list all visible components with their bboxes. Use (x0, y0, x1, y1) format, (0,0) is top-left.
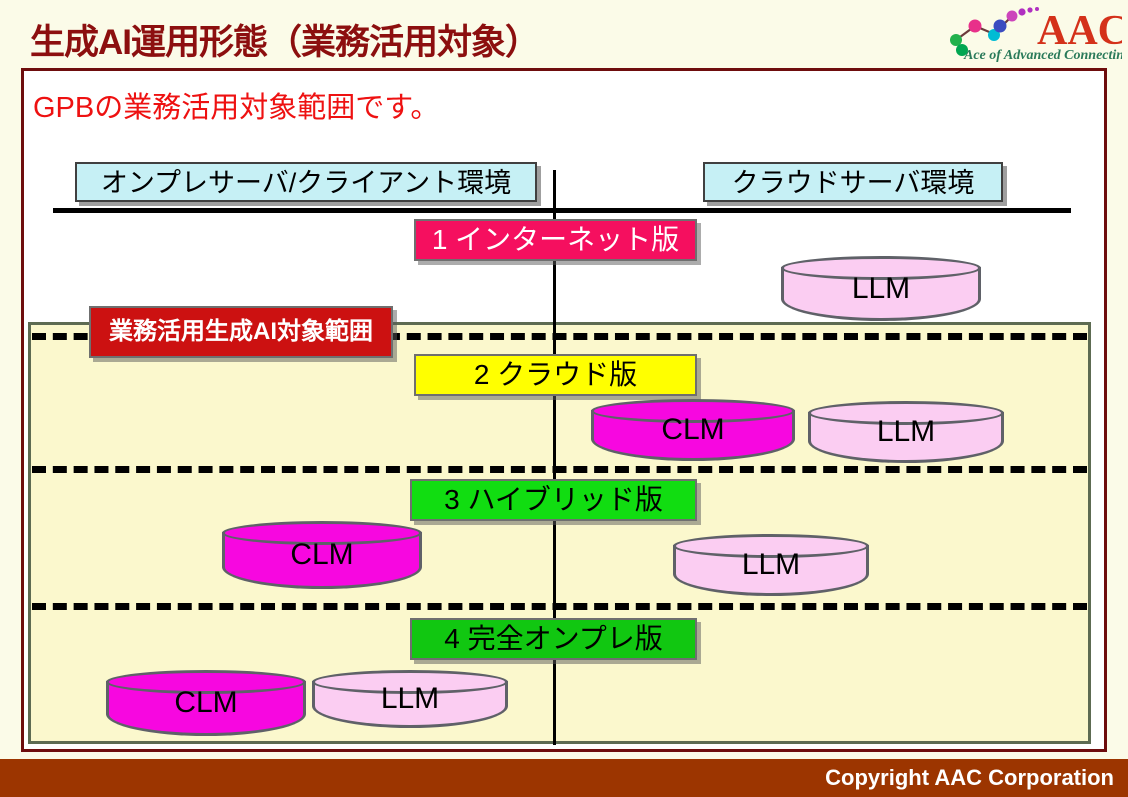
env-header-cloud: クラウドサーバ環境 (703, 162, 1003, 202)
cylinder-label: CLM (591, 399, 795, 461)
logo-tagline: Ace of Advanced Connecting (963, 48, 1122, 63)
mode-banner-full-onpremise: 4 完全オンプレ版 (410, 618, 697, 660)
cylinder-clm-cloud: CLM (591, 399, 795, 461)
cylinder-label: LLM (808, 401, 1004, 463)
dashed-separator-bottom (32, 603, 1087, 610)
cylinder-clm-onpremise: CLM (106, 670, 306, 736)
env-header-onprem: オンプレサーバ/クライアント環境 (75, 162, 537, 202)
mode-banner-hybrid: 3 ハイブリッド版 (410, 479, 697, 521)
cylinder-label: LLM (781, 256, 981, 321)
cylinder-llm-cloud: LLM (808, 401, 1004, 463)
scope-label: 業務活用生成AI対象範囲 (89, 306, 393, 358)
mode-banner-internet: 1 インターネット版 (414, 219, 697, 261)
cylinder-label: LLM (312, 670, 508, 728)
cylinder-label: CLM (106, 670, 306, 736)
cylinder-label: CLM (222, 521, 422, 589)
cylinder-label: LLM (673, 534, 869, 596)
mode-banner-cloud: 2 クラウド版 (414, 354, 697, 396)
dashed-separator-middle (32, 466, 1087, 473)
cylinder-clm-hybrid: CLM (222, 521, 422, 589)
env-divider-rule (53, 208, 1071, 213)
footer-bar: Copyright AAC Corporation (0, 759, 1128, 797)
cylinder-llm-hybrid: LLM (673, 534, 869, 596)
page-title: 生成AI運用形態（業務活用対象） (30, 14, 539, 65)
subtitle-text: GPBの業務活用対象範囲です。 (33, 84, 439, 126)
cylinder-llm-onpremise: LLM (312, 670, 508, 728)
copyright-text: Copyright AAC Corporation (825, 765, 1114, 791)
slide-canvas: 生成AI運用形態（業務活用対象） AAC Ace of Advanced Con… (0, 0, 1128, 797)
aac-logo: AAC Ace of Advanced Connecting (942, 2, 1122, 64)
cylinder-llm-internet: LLM (781, 256, 981, 321)
